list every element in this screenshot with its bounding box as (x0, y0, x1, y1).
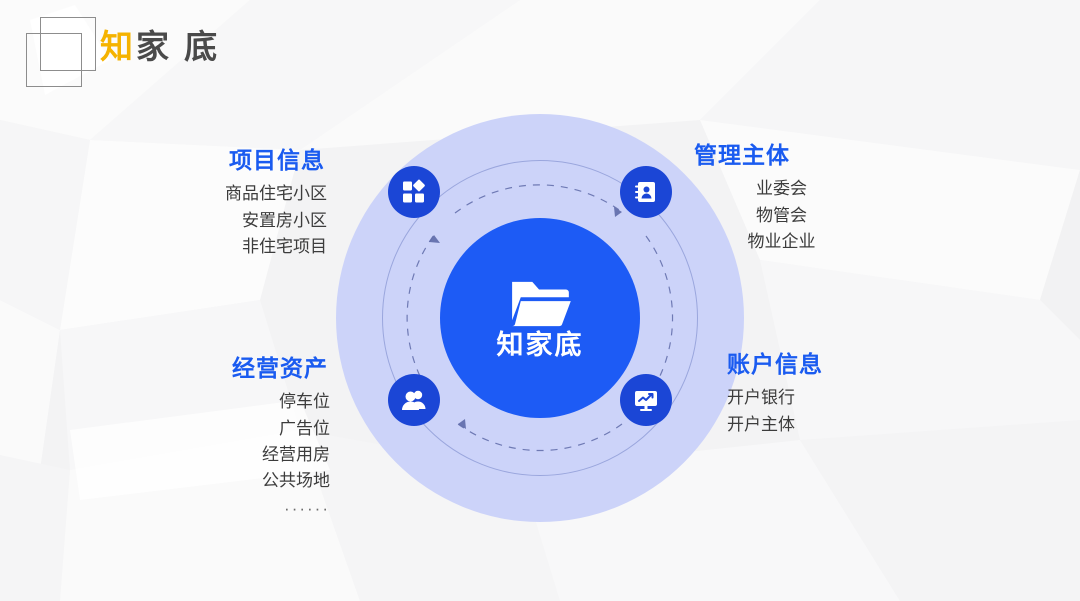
overlapping-squares-mark (22, 14, 102, 86)
brand-name-rest: 家 底 (136, 28, 220, 65)
list-item: 广告位 (125, 416, 330, 442)
list-item: 经营用房 (125, 442, 330, 468)
badge-manage[interactable] (620, 166, 672, 218)
group-manage-items: 业委会 物管会 物业企业 (694, 176, 869, 255)
brand-name-accent: 知 (100, 28, 136, 65)
group-account: 账户信息 开户银行 开户主体 (727, 352, 947, 438)
badge-project[interactable] (388, 166, 440, 218)
users-icon (401, 387, 427, 413)
group-project-items: 商品住宅小区 安置房小区 非住宅项目 (122, 181, 327, 260)
group-manage: 管理主体 业委会 物管会 物业企业 (694, 143, 914, 255)
group-asset-items: 停车位 广告位 经营用房 公共场地 ······ (125, 389, 330, 522)
list-item: 物业企业 (694, 229, 869, 255)
group-manage-title: 管理主体 (694, 143, 914, 168)
badge-account[interactable] (620, 374, 672, 426)
core-circle: 知家底 (440, 218, 640, 418)
group-project: 项目信息 商品住宅小区 安置房小区 非住宅项目 (122, 148, 327, 260)
list-item: 业委会 (694, 176, 869, 202)
hub-diagram: 知家底 (330, 108, 750, 528)
list-item: 非住宅项目 (122, 234, 327, 260)
group-project-title: 项目信息 (122, 148, 327, 173)
logo-square-front (26, 33, 82, 87)
folder-icon (509, 278, 571, 328)
apps-grid-icon (401, 179, 427, 205)
list-item: 公共场地 (125, 468, 330, 494)
badge-asset[interactable] (388, 374, 440, 426)
ellipsis-indicator: ······ (125, 495, 330, 522)
core-label: 知家底 (497, 332, 584, 359)
contact-book-icon (633, 179, 659, 205)
group-asset: 经营资产 停车位 广告位 经营用房 公共场地 ······ (125, 356, 330, 522)
brand-logo: 知家 底 (22, 14, 302, 94)
list-item: 开户银行 (727, 385, 947, 411)
monitor-chart-icon (633, 387, 659, 413)
group-asset-title: 经营资产 (125, 356, 330, 381)
list-item: 安置房小区 (122, 208, 327, 234)
group-account-title: 账户信息 (727, 352, 947, 377)
slide-canvas: 知家 底 知家底 (0, 0, 1080, 601)
group-account-items: 开户银行 开户主体 (727, 385, 947, 438)
brand-name: 知家 底 (100, 30, 220, 63)
list-item: 物管会 (694, 203, 869, 229)
list-item: 开户主体 (727, 412, 947, 438)
list-item: 商品住宅小区 (122, 181, 327, 207)
list-item: 停车位 (125, 389, 330, 415)
